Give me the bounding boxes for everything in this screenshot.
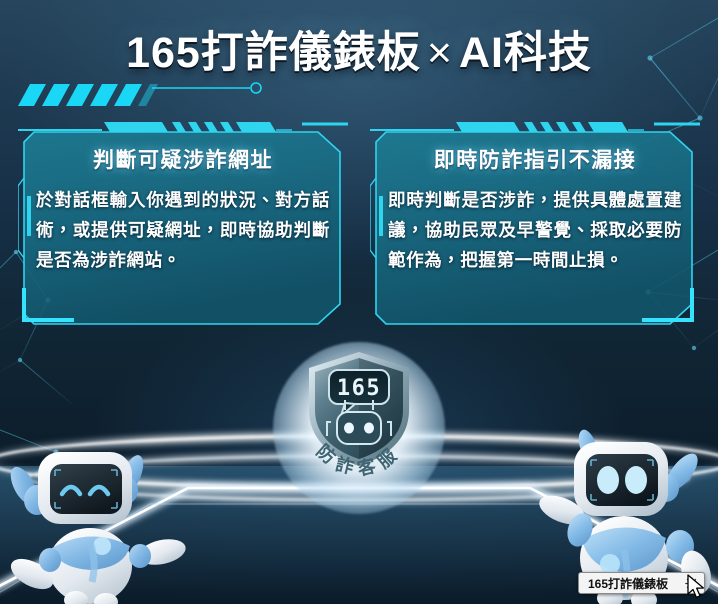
- poster-canvas: 165打詐儀錶板×AI科技: [0, 0, 718, 604]
- robot-antenna-left-icon: [327, 422, 331, 436]
- title-accent-decoration: [12, 82, 332, 112]
- badge-caption: 防詐客服: [312, 440, 406, 480]
- page-title-separator: ×: [421, 29, 459, 77]
- screen-corner-marks: [55, 470, 117, 508]
- floor-ring-core: [0, 436, 718, 500]
- page-title-left: 165打詐儀錶板: [126, 29, 421, 77]
- screen-corner-marks: [591, 460, 653, 500]
- robot-core-light-icon: [600, 554, 620, 574]
- page-title-text: 165打詐儀錶板×AI科技: [126, 18, 592, 80]
- badge-number: 165: [337, 376, 381, 401]
- robot-face-icon: [337, 412, 381, 444]
- robot-face-screen-left: [50, 464, 122, 514]
- panel-left-bracket-icon: [370, 178, 376, 258]
- diagonal-stripe-faded-icon: [138, 84, 158, 106]
- robot-chest-plate-right: [582, 527, 666, 572]
- robot-chest-plate-left: [52, 536, 130, 570]
- robot-body-left: [48, 528, 132, 604]
- robot-ear-left-icon: [575, 427, 601, 464]
- tooltip-label[interactable]: 165打詐儀錶板: [578, 572, 705, 594]
- speech-bubble-tail-icon: [341, 403, 355, 416]
- panel-top-stripes-icon: [104, 122, 276, 132]
- robot-face-screen-right: [586, 454, 658, 506]
- tooltip-text: 165打詐儀錶板: [588, 575, 668, 592]
- robot-arm-left: [6, 548, 61, 595]
- panel-body-text: 即時判斷是否涉詐，提供具體處置建議，協助民眾及早警覺、採取必要防範作為，把握第一…: [388, 185, 682, 275]
- page-title: 165打詐儀錶板×AI科技: [0, 18, 718, 80]
- robot-eye-right-icon: [364, 423, 374, 434]
- robot-leg-left: [64, 591, 88, 604]
- robot-ear-right-icon: [661, 449, 704, 496]
- robot-head-left: [38, 452, 132, 524]
- floor-ring-glow: [0, 436, 718, 500]
- badge-165-fraud-service: 165 防詐客服: [297, 348, 421, 498]
- shield-inner-icon: [315, 358, 403, 459]
- loading-sparkle-icon: [685, 577, 698, 590]
- panel-row: 判斷可疑涉詐網址 於對話框輸入你遇到的狀況、對方話術，或提供可疑網址，即時協助判…: [18, 118, 700, 352]
- robot-core-light-icon: [93, 537, 111, 555]
- robot-leg-right: [94, 593, 118, 604]
- diagonal-stripes-icon: [18, 84, 142, 106]
- page-title-right: AI科技: [459, 29, 592, 77]
- robot-ear-right-icon: [116, 452, 148, 496]
- shield-shading: [359, 358, 403, 459]
- badge-halo-glow: [273, 342, 445, 514]
- robot-arm-right: [129, 535, 188, 568]
- robot-eye-left-icon: [344, 423, 354, 434]
- robot-eye-right-icon: [625, 466, 647, 494]
- robot-antenna-right-icon: [387, 422, 391, 436]
- robot-eye-left-icon: [597, 466, 619, 494]
- robot-ear-left-icon: [5, 463, 42, 509]
- badge-screen-icon: [329, 370, 389, 404]
- panel-left-bracket-icon: [18, 178, 24, 258]
- panel-realtime-guidance[interactable]: 即時防詐指引不漏接 即時判斷是否涉詐，提供具體處置建議，協助民眾及早警覺、採取必…: [370, 118, 700, 352]
- accent-node-icon: [251, 83, 261, 93]
- panel-title: 判斷可疑涉詐網址: [36, 144, 330, 174]
- robot-character-left: [0, 424, 204, 604]
- panel-left-tick-icon: [379, 196, 383, 236]
- panel-top-stripes-icon: [456, 122, 628, 132]
- robot-eye-left-icon: [62, 487, 80, 494]
- panel-body-text: 於對話框輸入你遇到的狀況、對方話術，或提供可疑網址，即時協助判斷是否為涉詐網站。: [36, 185, 330, 275]
- robot-arm-left: [535, 490, 596, 550]
- robot-eye-right-icon: [90, 487, 108, 494]
- panel-suspicious-url[interactable]: 判斷可疑涉詐網址 於對話框輸入你遇到的狀況、對方話術，或提供可疑網址，即時協助判…: [18, 118, 348, 352]
- panel-title: 即時防詐指引不漏接: [388, 144, 682, 174]
- panel-left-tick-icon: [27, 196, 31, 236]
- shield-outer-icon: [309, 352, 409, 466]
- robot-head-right: [574, 442, 668, 516]
